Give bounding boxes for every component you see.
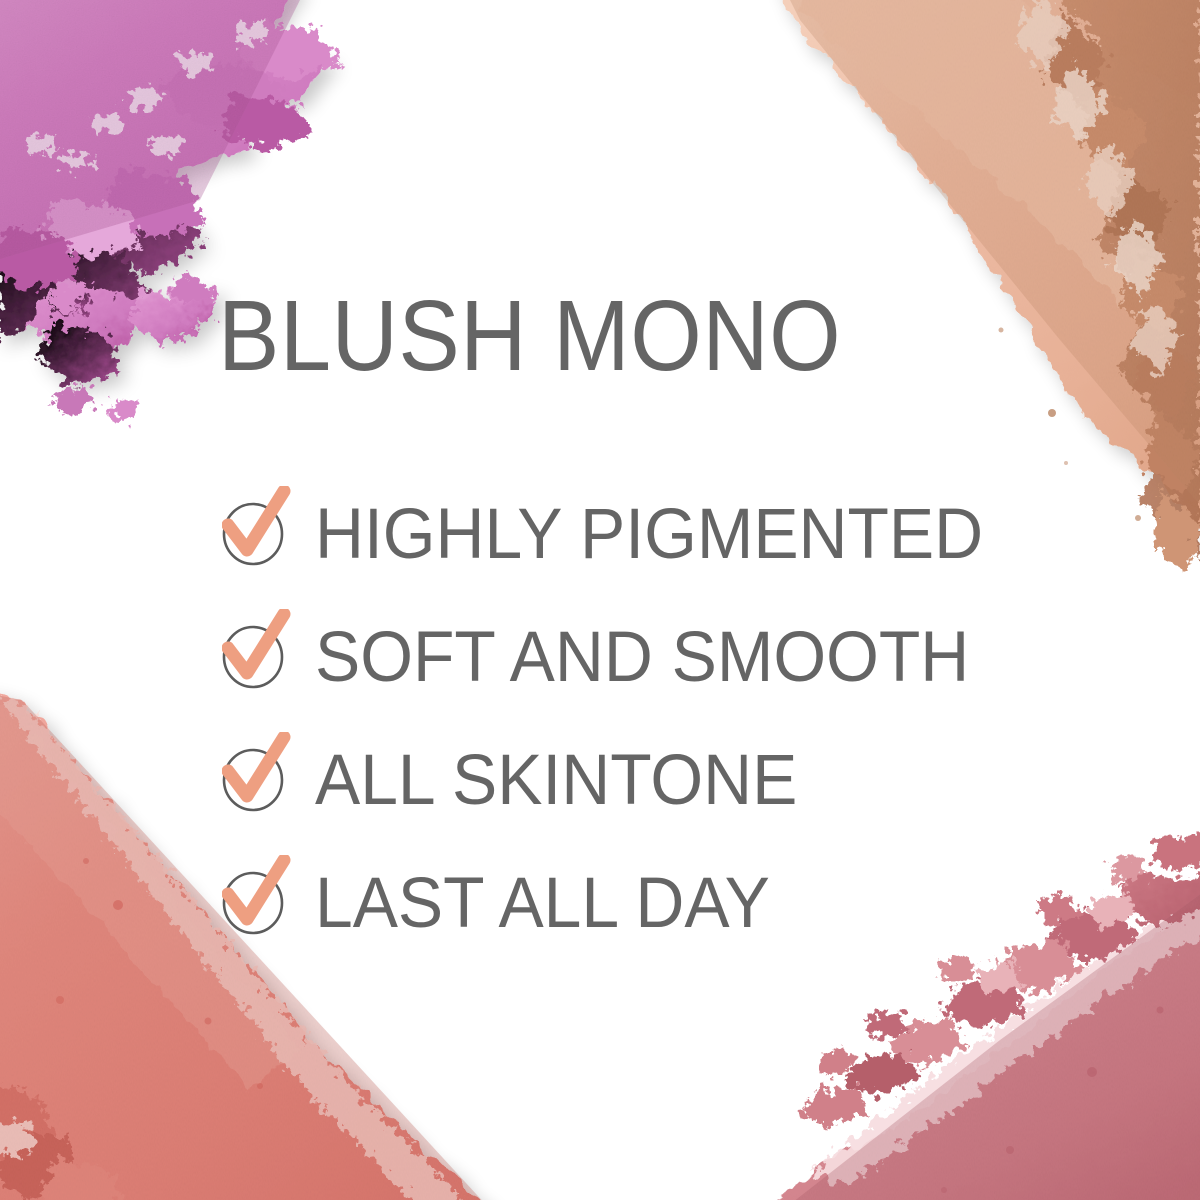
feature-label: SOFT AND SMOOTH [315,622,969,693]
check-circle-icon [222,855,318,951]
feature-list: HIGHLY PIGMENTED SOFT AND SMOOTH [222,486,1122,978]
check-circle-icon [222,609,318,705]
feature-label: ALL SKINTONE [315,745,797,816]
feature-row: LAST ALL DAY [222,855,1122,978]
feature-row: ALL SKINTONE [222,732,1122,855]
feature-row: HIGHLY PIGMENTED [222,486,1122,609]
feature-label: HIGHLY PIGMENTED [315,499,983,570]
product-feature-graphic: BLUSH MONO HIGHLY PIGMENTED [0,0,1200,1200]
check-circle-icon [222,732,318,828]
check-circle-icon [222,486,318,582]
content-layer: BLUSH MONO HIGHLY PIGMENTED [0,0,1200,1200]
feature-row: SOFT AND SMOOTH [222,609,1122,732]
page-title: BLUSH MONO [218,286,841,386]
feature-label: LAST ALL DAY [315,868,770,939]
